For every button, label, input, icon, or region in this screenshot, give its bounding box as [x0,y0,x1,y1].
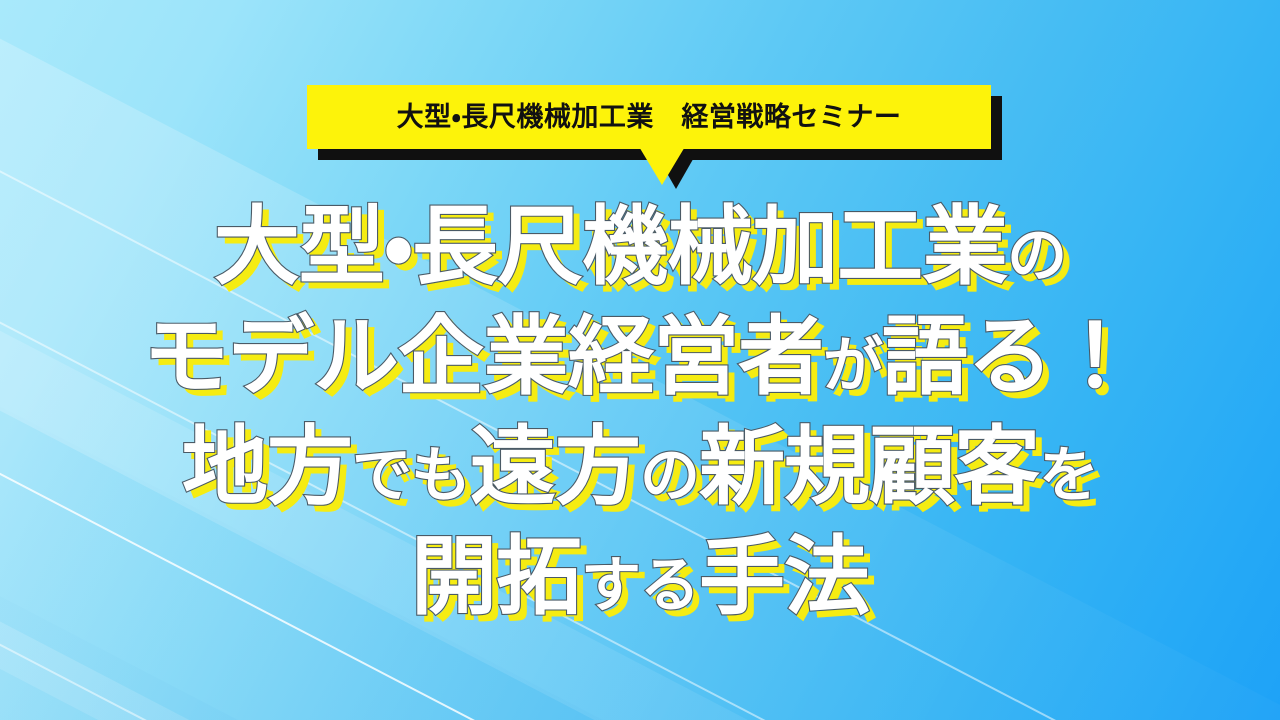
badge-body: 大型・長尺機械加工業 経営戦略セミナー [307,85,991,149]
headline-line-2: モデル企業経営者が語る！モデル企業経営者が語る！ [0,302,1280,412]
headline-segment-4: の [640,442,699,509]
headline-segment-3: 遠方 [470,419,640,515]
seminar-title-slide: 大型・長尺機械加工業 経営戦略セミナー 大型・長尺機械加工業の大型・長尺機械加工… [0,0,1280,720]
seminar-badge: 大型・長尺機械加工業 経営戦略セミナー [307,85,991,149]
headline-line-3: 地方でも遠方の新規顧客を地方でも遠方の新規顧客を [0,412,1280,522]
headline-segment-2: が [823,332,882,399]
headline-line-4: 開拓する手法開拓する手法 [0,522,1280,632]
headline-segment-1: 地方 [182,419,352,515]
headline-segment-1: モデル企業経営者 [143,309,823,405]
headline-segment-2: する [581,552,699,619]
headline-segment-3: 語る！ [882,309,1137,405]
headline-segment-1: 開拓 [411,529,581,625]
headline-segment-2: でも [352,442,470,509]
badge-label: 大型・長尺機械加工業 経営戦略セミナー [397,104,902,131]
headline-segment-5: 新規顧客 [699,419,1039,515]
speech-bubble-tail-icon [638,145,686,185]
headline-segment-1: 大型・長尺機械加工業 [214,199,1007,295]
headline-text-layer: 開拓する手法 [0,522,1280,657]
headline-segment-3: 手法 [699,529,869,625]
headline-segment-2: の [1007,222,1066,289]
headline-segment-6: を [1039,442,1098,509]
headline-block: 大型・長尺機械加工業の大型・長尺機械加工業のモデル企業経営者が語る！モデル企業経… [0,192,1280,632]
headline-line-1: 大型・長尺機械加工業の大型・長尺機械加工業の [0,192,1280,302]
